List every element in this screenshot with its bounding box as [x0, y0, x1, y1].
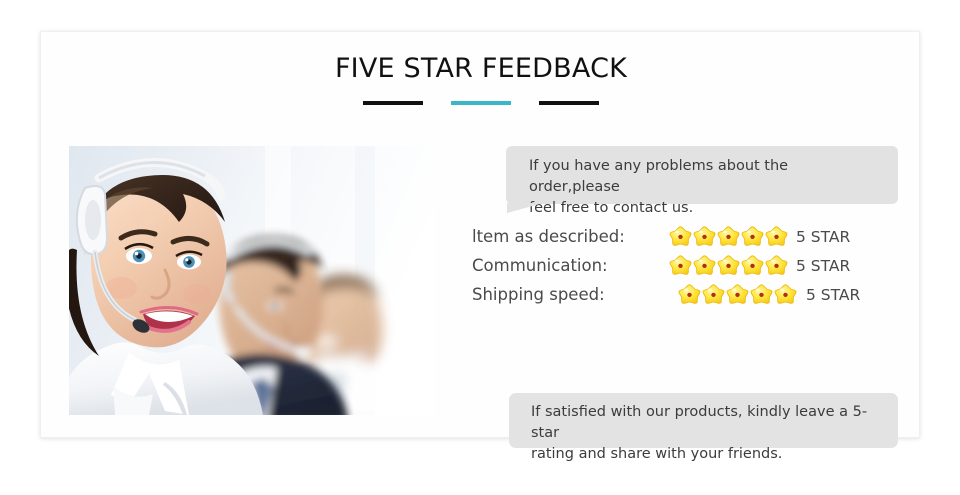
star-rating-group — [669, 254, 788, 277]
rating-row-item-as-described: ltem as described: 5 STAR — [461, 222, 898, 251]
rating-value: 5 STAR — [796, 257, 850, 275]
star-icon — [765, 254, 788, 277]
star-icon — [774, 283, 797, 306]
feedback-card: FIVE STAR FEEDBACK — [40, 31, 920, 438]
rating-label: Shipping speed: — [461, 285, 669, 304]
rating-value: 5 STAR — [796, 228, 850, 246]
star-rating-group — [678, 283, 797, 306]
rating-label: Communication: — [461, 256, 669, 275]
star-icon — [765, 225, 788, 248]
feedback-content: If you have any problems about the order… — [461, 146, 898, 415]
star-icon — [741, 225, 764, 248]
satisfaction-note-line-1: If satisfied with our products, kindly l… — [531, 402, 882, 444]
divider-left-icon — [363, 101, 423, 105]
contact-message-line-2: feel free to contact us. — [529, 198, 882, 219]
satisfaction-note-line-2: rating and share with your friends. — [531, 444, 882, 465]
contact-message-bubble: If you have any problems about the order… — [506, 146, 898, 204]
star-rating-group — [669, 225, 788, 248]
rating-row-shipping-speed: Shipping speed: 5 STAR — [461, 280, 898, 309]
star-icon — [693, 254, 716, 277]
rating-label: ltem as described: — [461, 227, 669, 246]
call-center-team-photo — [69, 146, 434, 415]
star-icon — [717, 254, 740, 277]
star-icon — [702, 283, 725, 306]
contact-message-line-1: If you have any problems about the order… — [529, 156, 882, 198]
ratings-list: ltem as described: 5 STAR Communication: — [461, 222, 898, 309]
title-divider-group — [41, 101, 921, 105]
satisfaction-note-box: If satisfied with our products, kindly l… — [509, 393, 898, 448]
divider-center-accent-icon — [451, 101, 511, 105]
star-icon — [678, 283, 701, 306]
page-title: FIVE STAR FEEDBACK — [41, 53, 921, 84]
star-icon — [717, 225, 740, 248]
rating-row-communication: Communication: 5 STAR — [461, 251, 898, 280]
star-icon — [693, 225, 716, 248]
star-icon — [669, 254, 692, 277]
divider-right-icon — [539, 101, 599, 105]
star-icon — [669, 225, 692, 248]
rating-value: 5 STAR — [806, 286, 860, 304]
bubble-tail-icon — [507, 203, 543, 213]
star-icon — [750, 283, 773, 306]
star-icon — [726, 283, 749, 306]
star-icon — [741, 254, 764, 277]
